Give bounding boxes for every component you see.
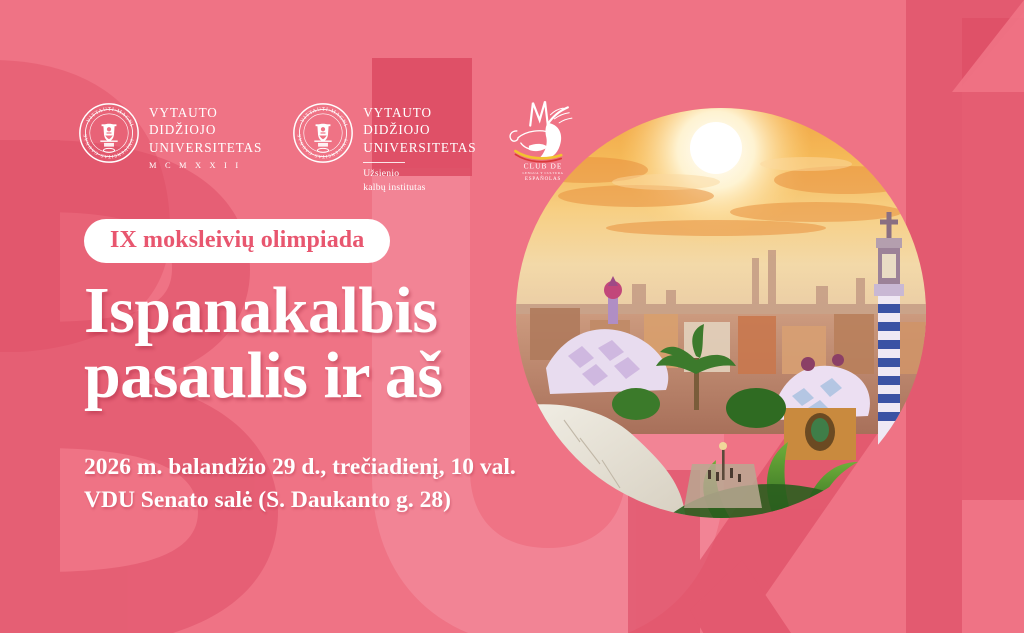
vdu-seal-icon: VITTAUTI·MAGNI UNIVERSITAS·CAUNAE (78, 102, 140, 164)
matador-bull-icon: CLUB DE LENGUA Y CULTURA ESPAÑOLAS (506, 96, 580, 182)
vdu-uki-logo[interactable]: VITTAUTI·MAGNI UNIVERSITAS·CAUNAE VYTAUT… (292, 100, 476, 194)
vdu-logo-line-2: DIDŽIOJO (149, 121, 262, 138)
page-title-line-1: Ispanakalbis (84, 274, 438, 347)
page-title-line-2: pasaulis ir aš (84, 343, 443, 408)
vdu-uki-subtitle-line-2: kalbų institutas (363, 181, 476, 194)
vdu-uki-logo-line-1: VYTAUTO (363, 104, 476, 121)
event-details: 2026 m. balandžio 29 d., trečiadienį, 10… (84, 451, 516, 518)
club-line-3: ESPAÑOLAS (525, 174, 561, 182)
gaudi-tower (874, 212, 904, 476)
club-line-2: LENGUA Y CULTURA (523, 171, 564, 175)
vdu-logo-founded-year: M C M X X I I (149, 161, 262, 170)
logo-divider (363, 162, 405, 163)
walkway (684, 442, 762, 508)
club-line-1: CLUB DE (524, 162, 563, 171)
logo-row: VITTAUTI·MAGNI UNIVERSITAS·CAUNAE VYTAUT… (78, 100, 580, 194)
olympiad-badge: IX moksleivių olimpiada (84, 219, 390, 263)
vdu-logo-line-1: VYTAUTO (149, 104, 262, 121)
vdu-logo[interactable]: VITTAUTI·MAGNI UNIVERSITAS·CAUNAE VYTAUT… (78, 100, 262, 170)
vdu-uki-logo-line-2: DIDŽIOJO (363, 121, 476, 138)
vdu-uki-logo-line-3: UNIVERSITETAS (363, 139, 476, 156)
page-title: Ispanakalbis pasaulis ir aš (84, 278, 443, 409)
event-date: 2026 m. balandžio 29 d., trečiadienį, 10… (84, 451, 516, 484)
vdu-logo-line-3: UNIVERSITETAS (149, 139, 262, 156)
club-de-espanol-logo[interactable]: CLUB DE LENGUA Y CULTURA ESPAÑOLAS (506, 100, 580, 187)
event-venue: VDU Senato salė (S. Daukanto g. 28) (84, 484, 516, 517)
vdu-uki-subtitle-line-1: Užsienio (363, 167, 476, 180)
vdu-seal-icon: VITTAUTI·MAGNI UNIVERSITAS·CAUNAE (292, 102, 354, 164)
